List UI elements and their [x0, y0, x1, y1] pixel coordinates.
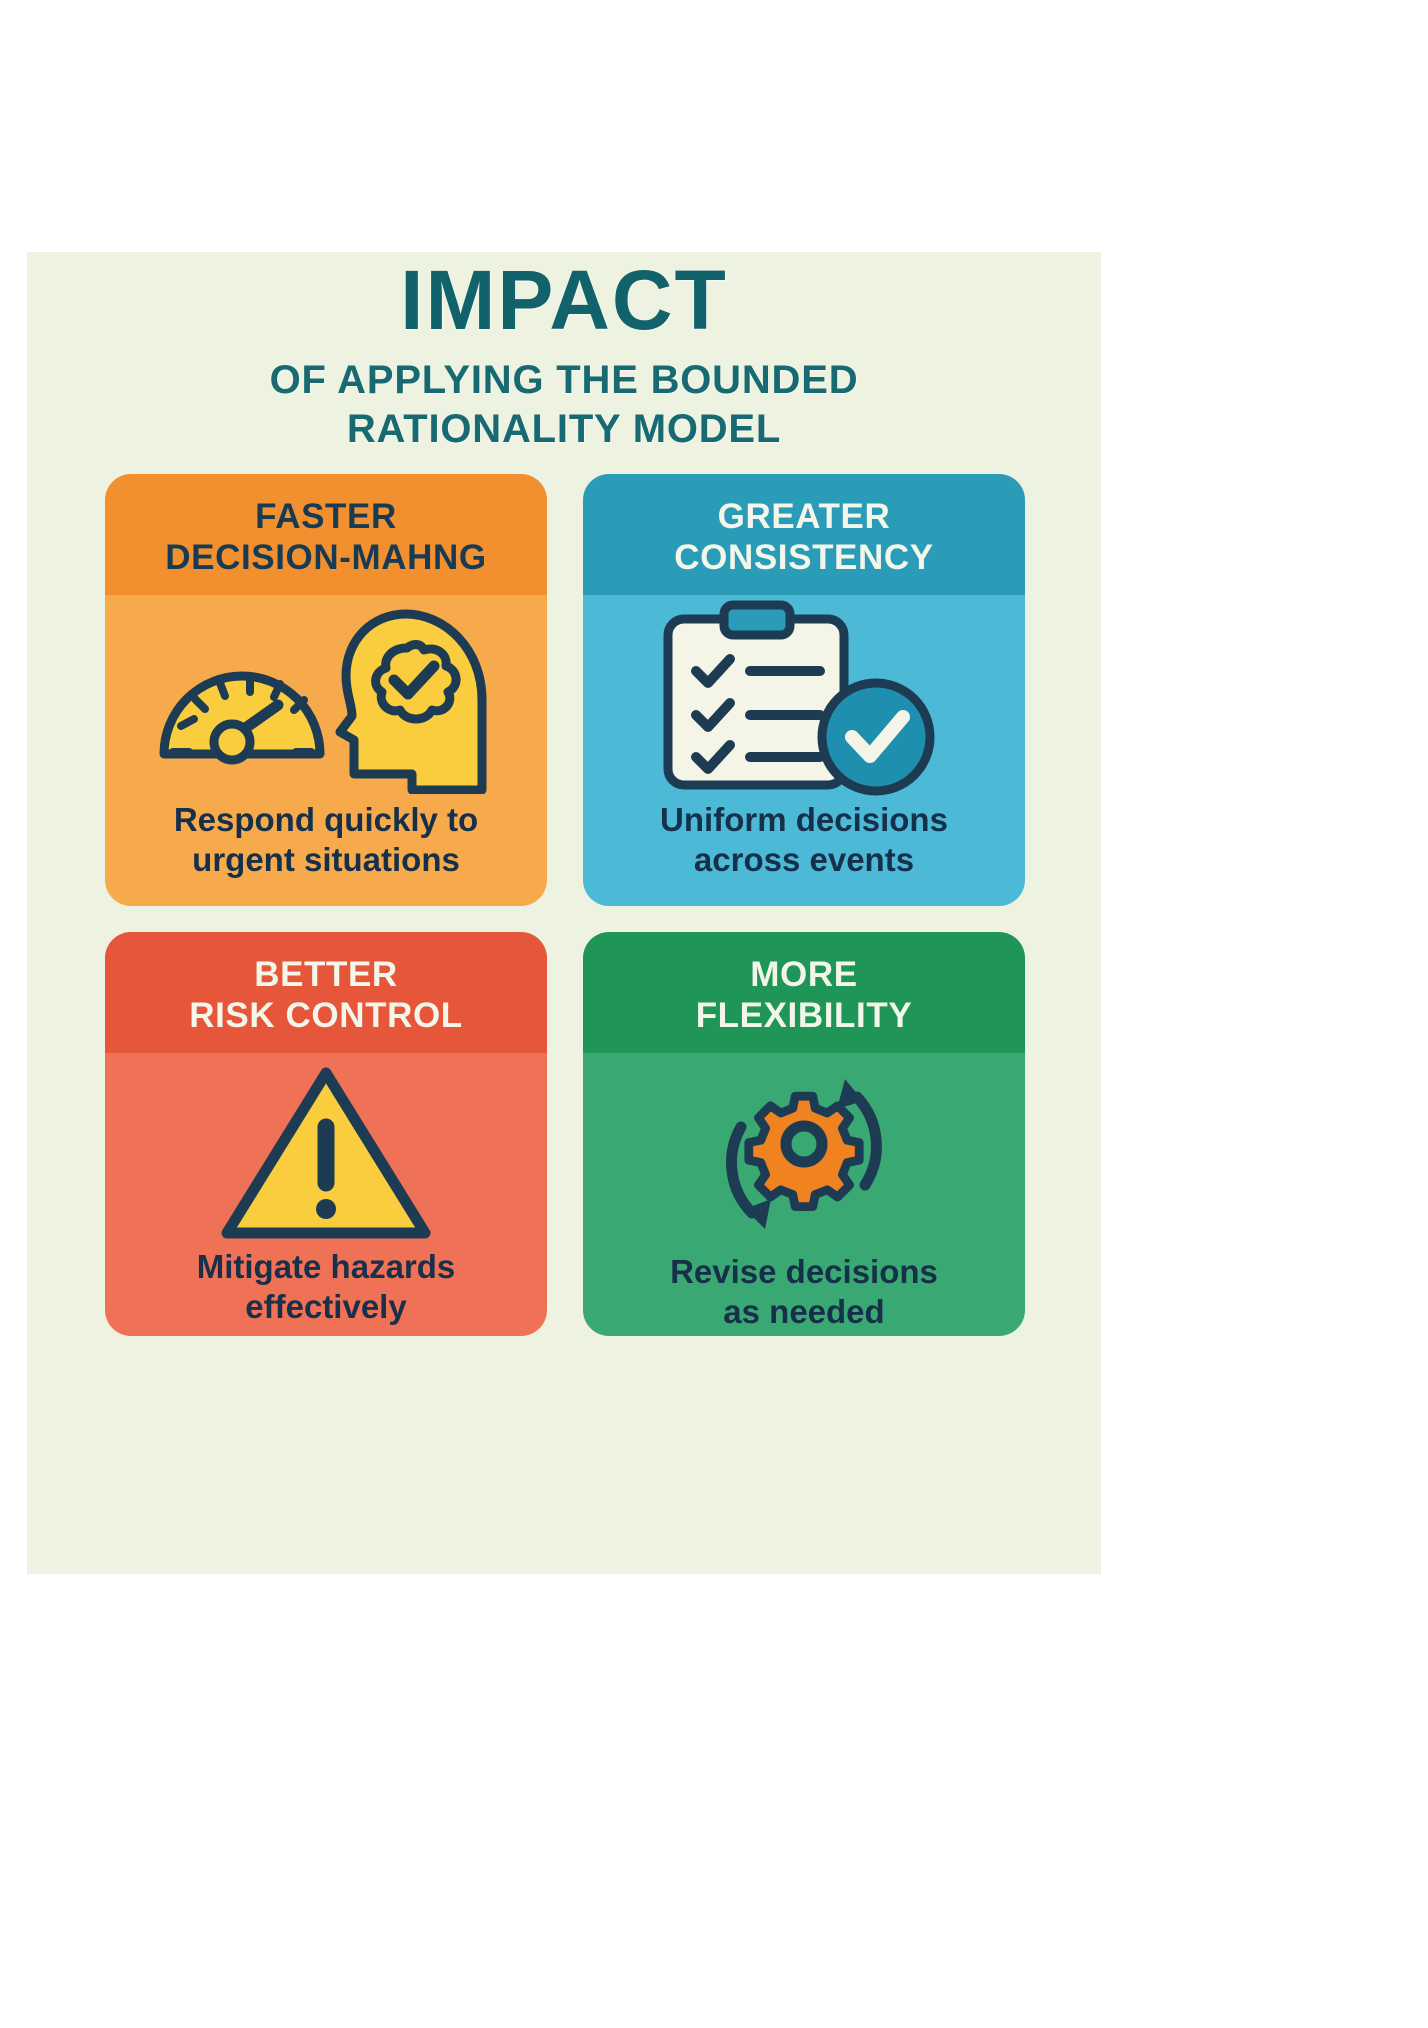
check-circle-icon — [822, 683, 930, 791]
impact-card-faster-decision-making[interactable]: FASTER DECISION-MAHNG — [105, 474, 547, 906]
card-caption-line-2: as needed — [723, 1293, 884, 1330]
card-icon-group — [603, 599, 1005, 800]
card-title-line-2: CONSISTENCY — [674, 538, 933, 577]
speedometer-icon — [164, 676, 320, 760]
gear-icon — [748, 1096, 858, 1206]
card-title: MORE FLEXIBILITY — [601, 954, 1007, 1037]
card-caption-line-1: Revise decisions — [670, 1253, 938, 1290]
screenshot-canvas: IMPACT OF APPLYING THE BOUNDED RATIONALI… — [0, 0, 1428, 2028]
card-title-line-2: FLEXIBILITY — [696, 996, 913, 1035]
card-caption: Mitigate hazards effectively — [197, 1247, 456, 1328]
card-icon-group — [125, 1057, 527, 1247]
impact-card-better-risk-control[interactable]: BETTER RISK CONTROL Mitigate hazards — [105, 932, 547, 1336]
infographic-poster: IMPACT OF APPLYING THE BOUNDED RATIONALI… — [27, 252, 1101, 1574]
card-body: Mitigate hazards effectively — [105, 1053, 547, 1336]
card-title: FASTER DECISION-MAHNG — [123, 496, 529, 579]
card-caption-line-1: Respond quickly to — [174, 801, 478, 838]
impact-card-grid: FASTER DECISION-MAHNG — [105, 474, 1025, 1336]
card-caption: Revise decisions as needed — [670, 1252, 938, 1333]
subtitle-line-1: OF APPLYING THE BOUNDED — [270, 358, 859, 402]
card-body: Revise decisions as needed — [583, 1053, 1025, 1336]
card-caption-line-2: urgent situations — [192, 841, 460, 878]
gear-refresh-icon — [697, 1057, 912, 1252]
impact-card-more-flexibility[interactable]: MORE FLEXIBILITY — [583, 932, 1025, 1336]
card-body: Respond quickly to urgent situations — [105, 595, 547, 906]
clipboard-checklist-and-check-circle-icon — [654, 599, 954, 799]
card-icon-group — [125, 599, 527, 800]
card-header: GREATER CONSISTENCY — [583, 474, 1025, 595]
card-caption-line-2: effectively — [245, 1288, 406, 1325]
subtitle-line-2: RATIONALITY MODEL — [347, 407, 781, 451]
card-caption-line-2: across events — [694, 841, 914, 878]
card-title-line-1: BETTER — [254, 955, 398, 994]
card-caption-line-1: Uniform decisions — [660, 801, 948, 838]
poster-heading: IMPACT OF APPLYING THE BOUNDED RATIONALI… — [27, 252, 1101, 454]
warning-triangle-icon — [211, 1057, 441, 1247]
page-title: IMPACT — [27, 258, 1101, 342]
speedometer-and-head-brain-icon — [146, 604, 506, 794]
card-title-line-2: DECISION-MAHNG — [165, 538, 486, 577]
card-caption-line-1: Mitigate hazards — [197, 1248, 456, 1285]
card-header: MORE FLEXIBILITY — [583, 932, 1025, 1053]
clipboard-checklist-icon — [668, 605, 844, 785]
card-body: Uniform decisions across events — [583, 595, 1025, 906]
card-title: GREATER CONSISTENCY — [601, 496, 1007, 579]
card-caption: Uniform decisions across events — [660, 800, 948, 881]
card-caption: Respond quickly to urgent situations — [174, 800, 478, 881]
card-header: BETTER RISK CONTROL — [105, 932, 547, 1053]
card-title: BETTER RISK CONTROL — [123, 954, 529, 1037]
card-title-line-1: GREATER — [718, 497, 891, 536]
card-title-line-2: RISK CONTROL — [189, 996, 463, 1035]
page-subtitle: OF APPLYING THE BOUNDED RATIONALITY MODE… — [27, 356, 1101, 454]
head-brain-check-icon — [340, 614, 482, 790]
card-icon-group — [603, 1057, 1005, 1252]
impact-card-greater-consistency[interactable]: GREATER CONSISTENCY — [583, 474, 1025, 906]
card-header: FASTER DECISION-MAHNG — [105, 474, 547, 595]
card-title-line-1: FASTER — [255, 497, 397, 536]
card-title-line-1: MORE — [750, 955, 857, 994]
